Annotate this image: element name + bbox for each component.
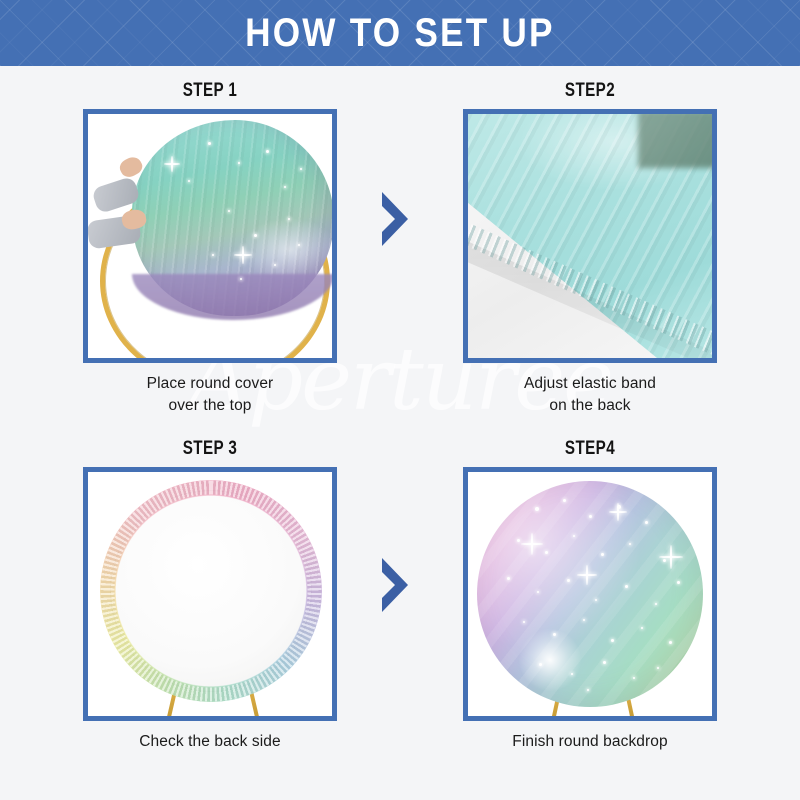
caption-line: over the top (83, 395, 337, 417)
step-caption-3: Check the back side (83, 731, 337, 753)
sparkle-icon (577, 565, 597, 585)
caption-line: Adjust elastic band (463, 373, 717, 395)
step-image-frame-3 (83, 467, 337, 721)
sparkle-icon (659, 545, 683, 569)
step-title-1: STEP 1 (108, 80, 311, 102)
step-card-3: STEP 3 Check the back side (83, 438, 337, 753)
step-caption-2: Adjust elastic band on the back (463, 373, 717, 418)
caption-line: Finish round backdrop (463, 731, 717, 753)
pastel-rim (100, 480, 322, 702)
page-header: HOW TO SET UP (0, 0, 800, 66)
caption-line: Place round cover (83, 373, 337, 395)
step-photo-4 (468, 472, 712, 716)
step-photo-3 (88, 472, 332, 716)
step-caption-4: Finish round backdrop (463, 731, 717, 753)
chevron-right-icon (378, 192, 412, 246)
steps-grid: STEP 1 (0, 66, 800, 800)
step-card-1: STEP 1 (83, 80, 337, 418)
step-caption-1: Place round cover over the top (83, 373, 337, 418)
step-photo-2 (468, 114, 712, 358)
step-image-frame-4 (463, 467, 717, 721)
step-title-3: STEP 3 (108, 438, 311, 460)
sparkle-icon (521, 533, 543, 555)
sparkle-icon (609, 503, 627, 521)
step-image-frame-1 (83, 109, 337, 363)
step-title-2: STEP2 (488, 80, 691, 102)
chevron-right-icon (378, 558, 412, 612)
step-card-4: STEP4 (463, 438, 717, 753)
step-card-2: STEP2 Adjust elastic band on the back (463, 80, 717, 418)
sparkle-icon (164, 156, 180, 172)
step-image-frame-2 (463, 109, 717, 363)
gradient-cover-cloth (132, 120, 332, 316)
step-title-4: STEP4 (488, 438, 691, 460)
caption-line: Check the back side (83, 731, 337, 753)
caption-line: on the back (463, 395, 717, 417)
step-photo-1 (88, 114, 332, 358)
sparkle-icon (234, 246, 252, 264)
background-blur (638, 114, 712, 168)
finished-backdrop-disc (477, 481, 703, 707)
page-title: HOW TO SET UP (245, 11, 555, 56)
